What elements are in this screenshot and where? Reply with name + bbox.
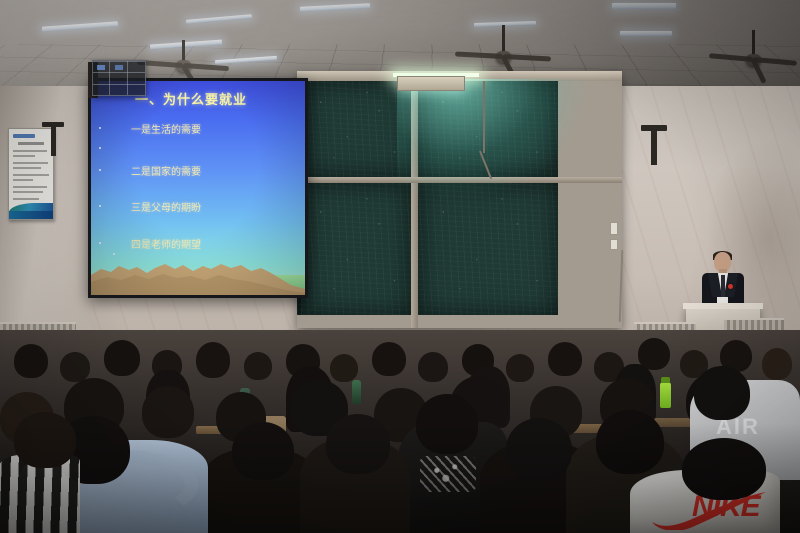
- audience-head: [244, 352, 272, 380]
- audience-head: [330, 354, 358, 382]
- jacket-graphic-print: [420, 456, 476, 492]
- blackboard-panel: [418, 81, 558, 177]
- audience-head: [506, 418, 572, 480]
- audience-head: [232, 422, 294, 480]
- slide-vignette: [91, 81, 305, 295]
- lecture-hall-photo: 一、为什么要就业 一是生活的需要 二是国家的需要 三是父母的期盼 四是老师的期望: [0, 0, 800, 533]
- board-lamp-housing: [397, 76, 465, 91]
- av-equipment-cage: [92, 60, 146, 96]
- audience-head: [196, 342, 230, 378]
- audience: AIR NIKE: [0, 330, 800, 533]
- audience-head: [372, 342, 406, 376]
- audience-head: [104, 340, 140, 376]
- podium-top: [683, 303, 763, 309]
- audience-head: [596, 410, 664, 474]
- speaker-red-badge: [728, 284, 733, 289]
- audience-head: [416, 394, 478, 454]
- thermos-cap: [661, 377, 670, 383]
- light-switch[interactable]: [610, 222, 618, 235]
- eraser-holder-icon: [42, 122, 64, 156]
- green-thermos: [660, 382, 671, 408]
- audience-head: [14, 344, 48, 378]
- blackboard-divider: [411, 81, 418, 328]
- light-switch[interactable]: [610, 239, 618, 250]
- eraser-holder-icon: [641, 125, 667, 167]
- audience-head: [326, 414, 390, 474]
- blackboard-panel: [301, 81, 411, 177]
- blackboard-panel: [301, 183, 411, 315]
- projection-screen: 一、为什么要就业 一是生活的需要 二是国家的需要 三是父母的期盼 四是老师的期望: [88, 78, 308, 298]
- poster-header-bar: [13, 134, 35, 138]
- audience-head: [762, 348, 792, 380]
- hanging-pointer-rod: [483, 81, 485, 153]
- audience-head: [506, 354, 534, 382]
- poster-title-line: [18, 142, 44, 145]
- audience-head: [60, 352, 90, 382]
- audience-head: [418, 352, 448, 382]
- audience-head: [682, 438, 766, 500]
- dark-green-thermos: [352, 380, 361, 404]
- poster-wave-graphic-2: [9, 211, 53, 219]
- audience-head: [548, 342, 582, 376]
- presentation-slide: 一、为什么要就业 一是生活的需要 二是国家的需要 三是父母的期盼 四是老师的期望: [91, 81, 305, 295]
- audience-head: [142, 386, 194, 438]
- blackboard: [297, 71, 622, 328]
- audience-head: [694, 366, 750, 420]
- blackboard-panel: [418, 183, 558, 315]
- speaker-tie: [721, 275, 725, 297]
- audience-head: [14, 412, 76, 468]
- blackboard-divider: [297, 177, 622, 183]
